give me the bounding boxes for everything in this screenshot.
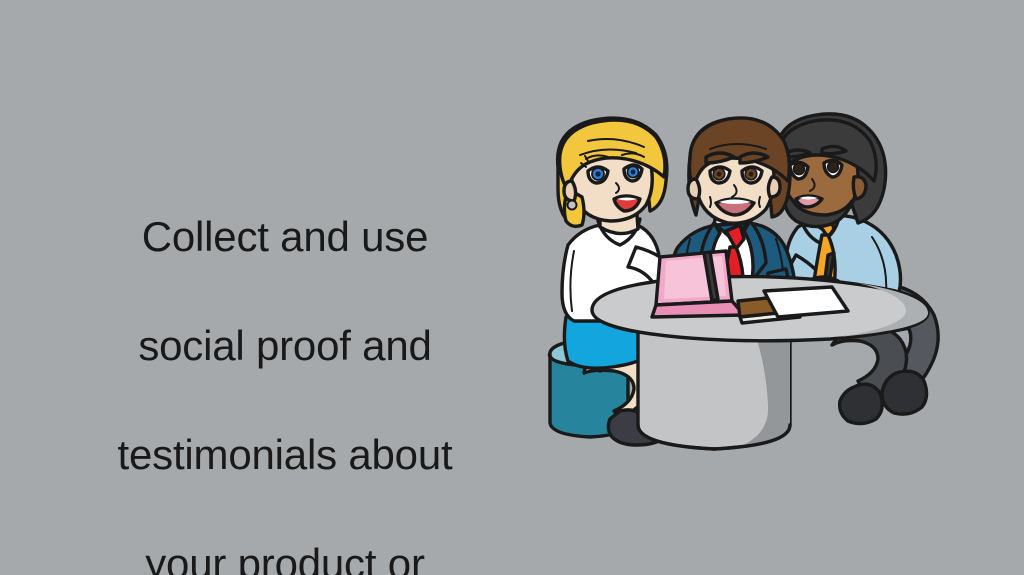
- paper-sheet: [764, 287, 848, 317]
- page-title: Collect and use social proof and testimo…: [60, 155, 510, 575]
- figure-man-center-head: [688, 118, 790, 223]
- headline-line-2: social proof and: [138, 322, 431, 369]
- meeting-illustration: .ol { stroke:#1a1a1a; stroke-width:3.4; …: [528, 105, 988, 460]
- headline-line-4: your product or: [145, 540, 424, 575]
- slide-canvas: Collect and use social proof and testimo…: [0, 0, 1024, 575]
- headline-line-1: Collect and use: [142, 213, 429, 260]
- figure-woman-left-head: [558, 118, 667, 233]
- headline-line-3: testimonials about: [118, 431, 453, 478]
